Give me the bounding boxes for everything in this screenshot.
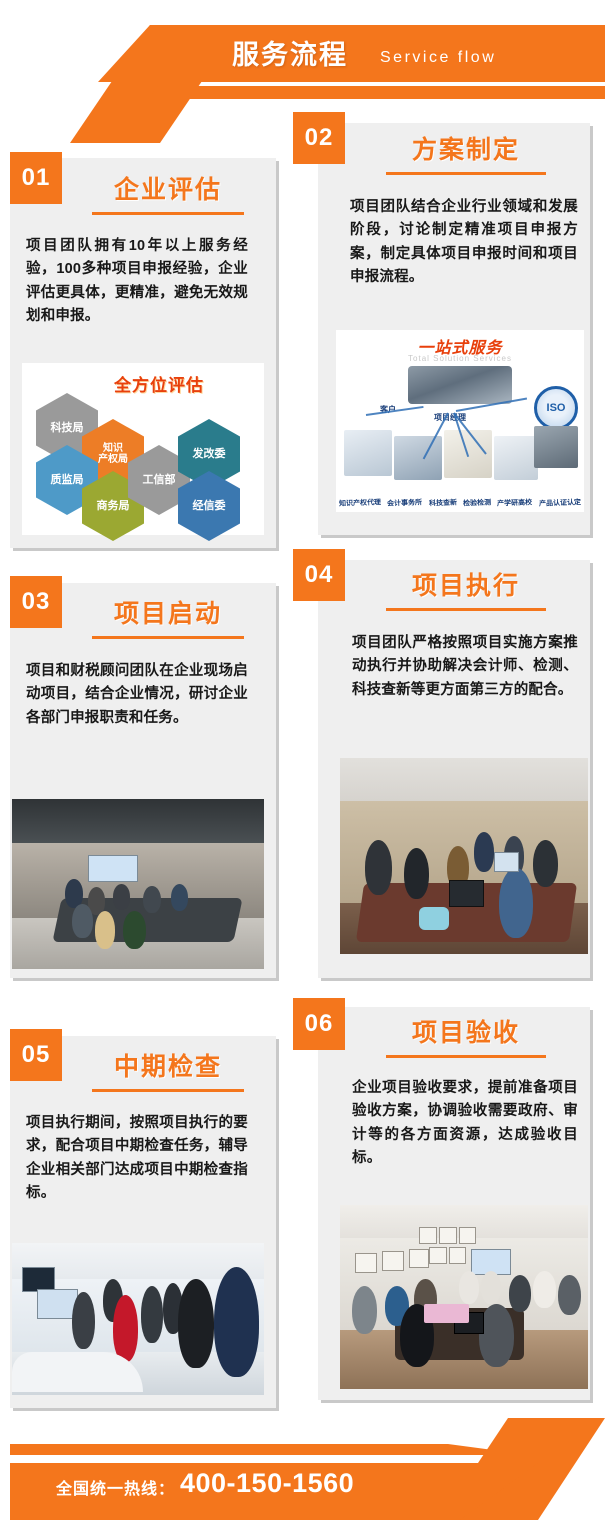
step-body-06: 企业项目验收要求，提前准备项目验收方案，协调验收需要政府、审计等的各方面资源，达… <box>352 1077 578 1171</box>
oss-bottom-label-5: 产学研高校 <box>497 497 532 508</box>
site-visit-photo <box>12 1243 264 1395</box>
oss-hub-photo <box>408 366 512 404</box>
conference-room-photo <box>12 799 264 969</box>
step-badge-06: 06 <box>293 998 345 1050</box>
step-title-03: 项目启动 <box>70 594 266 639</box>
title-underline <box>92 212 244 215</box>
title-underline <box>92 1089 244 1092</box>
service-flow-poster: 服务流程 Service flow 全方位评估 科技局 知识产权局 质监局 商务… <box>0 0 605 1538</box>
oss-node-4 <box>494 436 538 480</box>
oss-node-5 <box>534 426 578 468</box>
step-badge-01: 01 <box>10 152 62 204</box>
step-title-06: 项目验收 <box>350 1013 582 1058</box>
acceptance-meeting-photo <box>340 1205 588 1389</box>
step-title-01: 企业评估 <box>70 170 266 215</box>
title-underline <box>92 636 244 639</box>
step-body-04: 项目团队严格按照项目实施方案推动执行并协助解决会计师、检测、科技查新等更方面第三… <box>352 632 578 702</box>
oss-node-2 <box>394 436 442 480</box>
page-subtitle: Service flow <box>380 45 496 71</box>
page-footer: 全国统一热线： 400-150-1560 <box>0 1418 605 1538</box>
title-underline <box>386 172 546 175</box>
step-title-02: 方案制定 <box>350 130 582 175</box>
oss-bottom-label-1: 知识产权代理 <box>339 497 381 508</box>
hexagon-graphic-title: 全方位评估 <box>114 371 204 396</box>
step-body-03: 项目和财税顾问团队在企业现场启动项目，结合企业情况，研讨企业各部门申报职责和任务… <box>26 660 248 730</box>
step-card-02: 一站式服务 Total Solution Services 客户 项目经理 IS… <box>318 123 590 535</box>
step-badge-04: 04 <box>293 549 345 601</box>
step-body-02: 项目团队结合企业行业领域和发展阶段，讨论制定精准项目申报方案，制定具体项目申报时… <box>350 196 578 290</box>
oss-node-1 <box>344 430 392 476</box>
oss-bottom-labels: 知识产权代理 会计事务所 科技查新 检验检测 产学研高校 产品认证认定 <box>336 494 584 508</box>
step-card-01: 全方位评估 科技局 知识产权局 质监局 商务局 工信部 发改委 经信委 <box>10 158 276 548</box>
step-body-01: 项目团队拥有10年以上服务经验，100多种项目申报经验，企业评估更具体，更精准，… <box>26 235 248 329</box>
oss-seal-icon: ISO <box>534 386 578 430</box>
step-title-05: 中期检查 <box>70 1047 266 1092</box>
workshop-meeting-photo <box>340 758 588 954</box>
step-title-04: 项目执行 <box>350 566 582 611</box>
header-stripe <box>0 86 605 99</box>
oss-bottom-label-3: 科技查新 <box>429 498 457 509</box>
title-underline <box>386 608 546 611</box>
step-body-05: 项目执行期间，按照项目执行的要求，配合项目中期检查任务，辅导企业相关部门达成项目… <box>26 1112 248 1206</box>
step-badge-03: 03 <box>10 576 62 628</box>
oss-bottom-label-4: 检验检测 <box>463 498 491 509</box>
hexagon-assessment-graphic: 全方位评估 科技局 知识产权局 质监局 商务局 工信部 发改委 经信委 <box>22 363 264 535</box>
oss-bottom-label-6: 产品认证认定 <box>539 497 581 508</box>
step-badge-05: 05 <box>10 1029 62 1081</box>
page-header: 服务流程 Service flow <box>0 0 605 120</box>
oss-subtitle: Total Solution Services <box>336 354 584 363</box>
hotline-label: 全国统一热线： <box>56 1475 175 1499</box>
step-badge-02: 02 <box>293 112 345 164</box>
page-title: 服务流程 <box>232 35 348 75</box>
hotline-number[interactable]: 400-150-1560 <box>180 1468 354 1499</box>
oss-bottom-label-2: 会计事务所 <box>387 497 422 508</box>
title-underline <box>386 1055 546 1058</box>
one-stop-service-graphic: 一站式服务 Total Solution Services 客户 项目经理 IS… <box>336 330 584 512</box>
